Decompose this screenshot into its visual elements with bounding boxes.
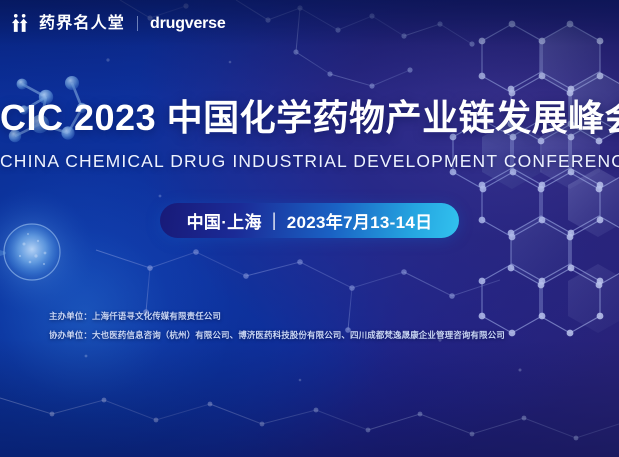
co-organizer-line: 协办单位：大也医药信息咨询（杭州）有限公司、博济医药科技股份有限公司、四川成都梵… <box>49 331 505 340</box>
brand-logo[interactable]: 药界名人堂 drugverse <box>10 13 226 34</box>
brand-name-cn: 药界名人堂 <box>39 16 125 32</box>
logo-divider <box>137 16 138 31</box>
pill-separator: | <box>271 210 278 231</box>
event-info-pill[interactable]: 中国·上海 | 2023年7月13-14日 <box>160 203 460 238</box>
banner-content: CIC 2023 中国化学药物产业链发展峰会 CHINA CHEMICAL DR… <box>0 0 619 457</box>
event-location: 中国·上海 <box>187 208 262 233</box>
conference-title-en: CHINA CHEMICAL DRUG INDUSTRIAL DEVELOPME… <box>0 152 619 171</box>
conference-title-cn: CIC 2023 中国化学药物产业链发展峰会 <box>0 99 619 137</box>
conference-banner: 药界名人堂 drugverse CIC 2023 中国化学药物产业链发展峰会 C… <box>0 0 619 457</box>
event-date: 2023年7月13-14日 <box>287 208 433 233</box>
event-info-row: 中国·上海 | 2023年7月13-14日 <box>0 203 619 238</box>
credits-block: 主办单位：上海仟语寻文化传媒有限责任公司 协办单位：大也医药信息咨询（杭州）有限… <box>49 312 505 340</box>
people-pair-icon <box>10 13 31 34</box>
organizer-line: 主办单位：上海仟语寻文化传媒有限责任公司 <box>49 312 505 321</box>
brand-name-en: drugverse <box>150 16 226 32</box>
